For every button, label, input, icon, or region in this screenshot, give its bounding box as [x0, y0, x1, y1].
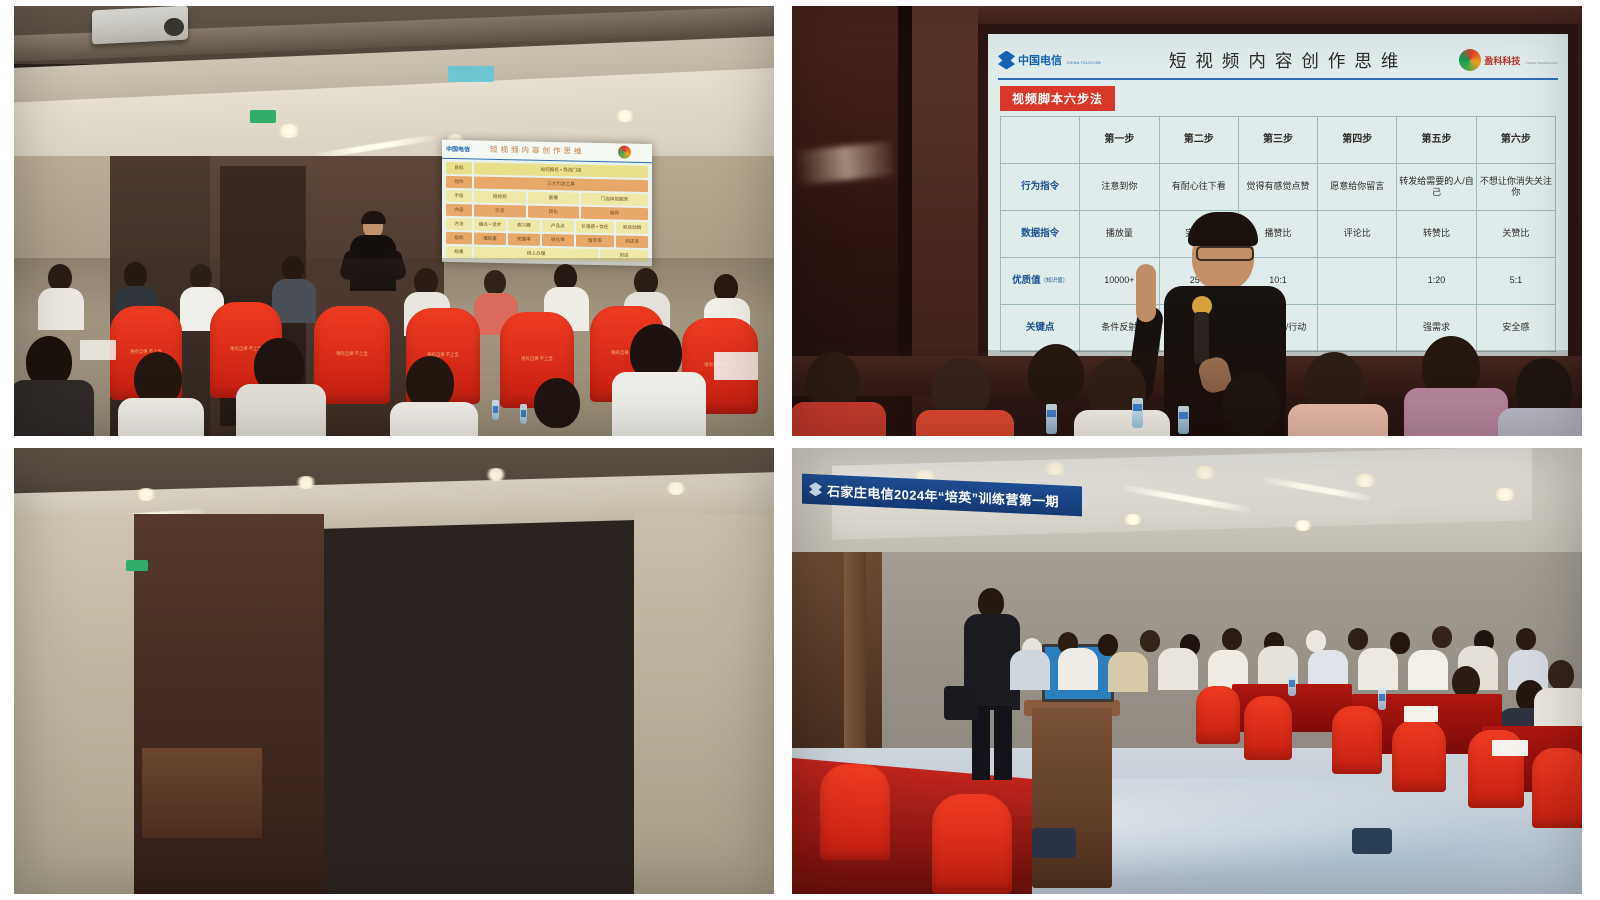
backpack: [1352, 828, 1392, 854]
slide-row-label: 指标: [446, 232, 472, 245]
banquet-chair: [932, 794, 1012, 894]
column-header: 第四步: [1318, 117, 1397, 163]
water-bottle: [1288, 674, 1296, 696]
slide-title: 短视频内容创作思维: [1101, 48, 1459, 73]
banquet-chair: [1532, 748, 1582, 828]
panel-top-right: 中国电信 CHINA TELECOM 短视频内容创作思维 盈科科技 YINGKE…: [792, 6, 1582, 436]
slide-cell: 直播: [528, 192, 580, 205]
yingke-mark-icon: [1459, 49, 1481, 71]
yingke-name: 盈科科技: [1484, 56, 1520, 66]
banquet-chair: [820, 764, 890, 860]
water-bottle: [520, 404, 527, 424]
panel-bottom-right: 石家庄电信2024年“培英”训练营第一期: [792, 448, 1582, 894]
slide-row-label: 手段: [446, 190, 472, 203]
banquet-chair: 唯有自律 不上当: [314, 306, 390, 404]
slide-cell: 三大引流工具: [474, 176, 648, 192]
column-header: 第一步: [1080, 117, 1159, 163]
slide-row-label: 方法: [446, 218, 472, 231]
slide-cell: 痛点 • 话术: [474, 218, 506, 231]
water-bottle: [1378, 688, 1386, 710]
banquet-chair: [1332, 706, 1382, 774]
table-cell: 播放量: [1080, 211, 1159, 257]
banner-title: 石家庄电信2024年“培英”训练营第一期: [827, 480, 1059, 510]
chair-back-text: 唯有自律 不上当: [319, 351, 386, 357]
attendee-head: [534, 378, 580, 428]
column-header: 第五步: [1397, 117, 1476, 163]
slide-cell: 如何报名 • 导流门店: [474, 162, 648, 178]
slide-cell: 产品点: [542, 220, 574, 233]
slide-title: 短视频内容创作思维: [490, 144, 585, 157]
table-cell: 愿意给你留言: [1318, 164, 1397, 210]
slide-cell: 留存率: [576, 235, 614, 248]
table-corner-cell: [1000, 117, 1080, 163]
table-cell: 关赞比: [1477, 211, 1556, 257]
table-cell: 觉得有感觉点赞: [1239, 164, 1318, 210]
papers: [714, 352, 758, 380]
exit-sign: [126, 560, 148, 571]
table-cell: 不想让你消失关注你: [1477, 164, 1556, 210]
yingke-name-en: YINGKE TECHNOLOGY: [1525, 61, 1558, 65]
slide-cell: 引流: [474, 204, 526, 217]
banquet-chair: [1196, 686, 1240, 744]
slide-cell: 完播率: [508, 233, 540, 246]
slide-cell: 播放量: [474, 232, 506, 245]
attendee-head: [1222, 372, 1280, 436]
chair-back-text: 唯有自律 不上当: [504, 356, 569, 362]
slide-cell: 高兴趣: [508, 219, 540, 232]
slide-cell: 转化: [528, 206, 580, 219]
slide-row-label: 结果: [446, 246, 472, 259]
podium: [1032, 708, 1112, 888]
slide-cell: 短视频: [474, 190, 526, 203]
table-cell: 1:20: [1397, 258, 1476, 304]
row-label-sub: （知识值）: [1041, 278, 1069, 285]
table-cell: 注意到你: [1080, 164, 1159, 210]
row-label-main: 优质值: [1012, 275, 1041, 287]
backpack: [1032, 828, 1076, 858]
yingke-logo: 盈科科技 YINGKE TECHNOLOGY: [1459, 49, 1558, 71]
exit-sign: [250, 110, 276, 123]
presenter-hand: [1136, 264, 1156, 322]
banquet-chair: [1392, 720, 1446, 792]
slide-row-label: 内容: [446, 204, 472, 217]
row-label: 数据指令: [1000, 211, 1080, 257]
row-label: 优质值 （知识值）: [1000, 258, 1080, 304]
china-telecom-logo: 中国电信: [446, 144, 470, 154]
slide-cell: 转化率: [542, 234, 574, 247]
column-header: 第六步: [1477, 117, 1556, 163]
banquet-chair: [1244, 696, 1292, 760]
water-bottle: [492, 400, 499, 420]
table-cell: 评论比: [1318, 211, 1397, 257]
table-cell: [1318, 305, 1397, 351]
row-label: 关键点: [1000, 305, 1080, 351]
row-label: 行为指令: [1000, 164, 1080, 210]
panel-bottom-left: 中国电信 短视频内容运营传播力 大厨的工作日常 奇怪的铁律 越是有钱人越节俭: [14, 448, 774, 894]
column-header: 第二步: [1160, 117, 1239, 163]
table-cell: 有耐心往下看: [1160, 164, 1239, 210]
slide-cell: 到店动销: [616, 221, 648, 234]
presenter-glasses: [1196, 246, 1254, 261]
brand-name-en: CHINA TELECOM: [1066, 61, 1101, 65]
attendee-head: [1548, 660, 1574, 690]
table-cell: 转赞比: [1397, 211, 1476, 257]
column-header: 第三步: [1239, 117, 1318, 163]
yingke-logo-icon: [618, 145, 631, 158]
section-badge: 视频脚本六步法: [1000, 86, 1115, 111]
blue-sign: [448, 66, 494, 82]
table-cell: 转发给需要的人/自己: [1397, 164, 1476, 210]
table-row: 数据指令 播放量 完播率 播赞比 评论比 转赞比 关赞比: [1000, 211, 1556, 258]
water-bottle: [1132, 398, 1143, 428]
panel-top-left: 中国电信 短视频内容创作思维 目标 如何报名 • 导流门店 动作 三大引流工具 …: [14, 6, 774, 436]
table-cell: 安全感: [1477, 305, 1556, 351]
slide-cell: 门店体验服务: [581, 193, 648, 206]
podium: [142, 748, 262, 838]
table-cell: [1318, 258, 1397, 304]
china-telecom-mark-icon: [998, 51, 1015, 70]
brand-name-cn: 中国电信: [1018, 55, 1062, 67]
bag: [944, 686, 978, 720]
photo-collage: 中国电信 短视频内容创作思维 目标 如何报名 • 导流门店 动作 三大引流工具 …: [0, 0, 1600, 900]
china-telecom-mark-icon: [809, 482, 822, 497]
table-cell: 5:1: [1477, 258, 1556, 304]
slide-cell: 到店率: [616, 235, 648, 248]
papers: [80, 340, 116, 360]
china-telecom-logo: 中国电信 CHINA TELECOM: [998, 51, 1101, 70]
projection-screen: 中国电信 短视频内容创作思维 目标 如何报名 • 导流门店 动作 三大引流工具 …: [442, 140, 652, 266]
slide-row-label: 动作: [446, 176, 472, 189]
table-row: 行为指令 注意到你 有耐心往下看 觉得有感觉点赞 愿意给你留言 转发给需要的人/…: [1000, 164, 1556, 211]
table-header-row: 第一步 第二步 第三步 第四步 第五步 第六步: [1000, 116, 1556, 164]
slide-cell: 留存: [581, 207, 648, 220]
water-bottle: [1046, 404, 1057, 434]
slide-row-label: 目标: [446, 162, 472, 175]
attendee-head: [1028, 344, 1084, 406]
slide-cell: 价值感 • 信任: [576, 221, 614, 234]
water-bottle: [1178, 406, 1189, 434]
